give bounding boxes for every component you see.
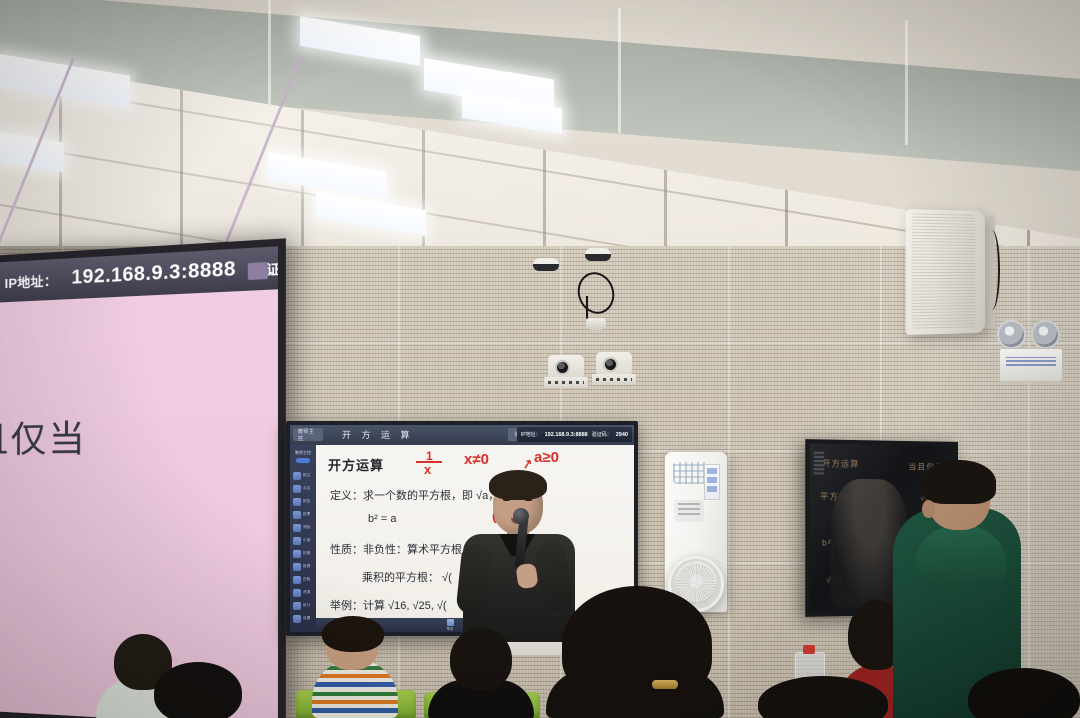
ac-vent-icon	[673, 462, 707, 484]
student-long-hair	[540, 586, 730, 718]
sidebar-item-label: 点名	[303, 486, 311, 491]
student-hair	[562, 586, 712, 702]
board-ip-bar: IP地址： 192.168.9.3:8888 验证码： 2940	[517, 427, 632, 442]
board-top-bar: 教师主控 开 方 运 算 课件演示 IP地址： 192.168.9.3:8888…	[290, 425, 634, 445]
quiz-icon	[293, 524, 301, 532]
sidebar-item-whiteboard[interactable]: 白板	[290, 573, 316, 586]
slide-line-4: 乘积的平方根： √(	[362, 569, 452, 585]
student-bottom-center	[758, 676, 888, 718]
sidebar-item-label: 投票	[303, 512, 311, 517]
student-head	[968, 668, 1080, 718]
board-title: 开 方 运 算	[342, 428, 414, 441]
sidebar-item-label: 白板	[303, 577, 311, 582]
gear-icon	[293, 615, 301, 623]
sidebar-item-label: 设置	[303, 616, 311, 621]
teacher-hand	[515, 563, 538, 590]
roster-icon	[293, 485, 301, 493]
slide-line-3: 性质：非负性：算术平方根	[330, 541, 462, 557]
sidebar-item-label: 统计	[303, 603, 311, 608]
group-icon	[293, 537, 301, 545]
slide-heading: 开方运算	[328, 455, 384, 474]
student-bottom-right	[968, 668, 1080, 718]
sidebar-item-pen[interactable]: 批注	[290, 469, 316, 482]
student-striped	[312, 604, 398, 718]
board-code-value: 2940	[616, 432, 628, 438]
teacher-eye	[503, 498, 510, 501]
student-head	[758, 676, 888, 718]
lamp-icon	[997, 320, 1026, 349]
board-brand-chip[interactable]: 教师主控	[293, 428, 323, 441]
sidebar-item-folder[interactable]: 资源	[290, 586, 316, 599]
ac-control-panel[interactable]	[674, 500, 704, 522]
student-ear	[922, 500, 935, 518]
sidebar-header: 教师主控	[290, 450, 316, 456]
board-brand-label: 教师主控	[298, 428, 318, 442]
classroom-scene: IP地址： 192.168.9.3:8888 验证码： 2940 且仅当 教师主…	[0, 0, 1080, 718]
wall-speaker	[906, 209, 985, 335]
sidebar-item-label: 抢答	[303, 499, 311, 504]
sidebar-item-buzzer[interactable]: 抢答	[290, 495, 316, 508]
buzzer-icon	[293, 498, 301, 506]
sidebar-item-label: 测验	[303, 525, 311, 530]
dome-camera-icon	[585, 248, 611, 261]
student-hair	[922, 460, 996, 504]
speaker-wire	[984, 230, 1000, 310]
sidebar-item-label: 小组	[303, 538, 311, 543]
slide-line-2: b² = a	[368, 513, 396, 525]
student-head	[450, 628, 512, 690]
band-mullion	[905, 20, 908, 145]
microphone-icon	[513, 508, 529, 524]
ceiling-microphone	[586, 318, 606, 330]
board-ip-value: 192.168.9.3:8888	[545, 432, 588, 438]
student-center	[428, 628, 534, 718]
sidebar-item-group[interactable]: 小组	[290, 534, 316, 547]
raise-hand-icon	[447, 619, 454, 626]
teacher-hair	[489, 470, 547, 500]
sidebar-item-roster[interactable]: 点名	[290, 482, 316, 495]
sidebar-active-pill	[296, 458, 310, 463]
hair-clip	[652, 680, 678, 689]
student-front-left-2	[144, 662, 254, 718]
ink-fraction-denominator: x	[424, 462, 431, 477]
sidebar-item-label: 拍照	[303, 551, 311, 556]
sidebar-item-vote[interactable]: 投票	[290, 508, 316, 521]
emergency-light	[995, 320, 1067, 382]
dome-camera-icon	[533, 258, 559, 271]
ink-fraction-numerator: 1	[426, 449, 433, 463]
board-code-label: 验证码：	[592, 431, 612, 438]
ink-condition-a: a≥0	[534, 449, 559, 466]
chart-icon	[293, 602, 301, 610]
sidebar-item-label: 投屏	[303, 564, 311, 569]
band-mullion	[268, 0, 271, 119]
ptz-camera	[548, 355, 584, 389]
lamp-icon	[1031, 320, 1060, 349]
jacket-hood	[915, 526, 1007, 590]
pen-icon	[293, 472, 301, 480]
ptz-camera	[596, 352, 632, 386]
sidebar-item-label: 批注	[303, 473, 311, 478]
ink-fraction-bar	[416, 461, 442, 463]
teacher-eye	[525, 498, 532, 501]
sidebar-item-label: 资源	[303, 590, 311, 595]
speaker-grille-icon	[912, 213, 976, 328]
whiteboard-icon	[293, 576, 301, 584]
folder-icon	[293, 589, 301, 597]
sidebar-item-quiz[interactable]: 测验	[290, 521, 316, 534]
ink-condition-x: x≠0	[464, 451, 489, 468]
student-hair	[322, 616, 384, 652]
band-mullion	[618, 8, 621, 133]
vote-icon	[293, 511, 301, 519]
camera-icon	[293, 550, 301, 558]
sidebar-item-camera[interactable]: 拍照	[290, 547, 316, 560]
student-head	[154, 662, 242, 718]
sidebar-item-cast[interactable]: 投屏	[290, 560, 316, 573]
board-ip-label: IP地址：	[521, 431, 541, 438]
bottle-cap	[803, 645, 815, 654]
ac-energy-label	[704, 464, 720, 500]
cast-icon	[293, 563, 301, 571]
